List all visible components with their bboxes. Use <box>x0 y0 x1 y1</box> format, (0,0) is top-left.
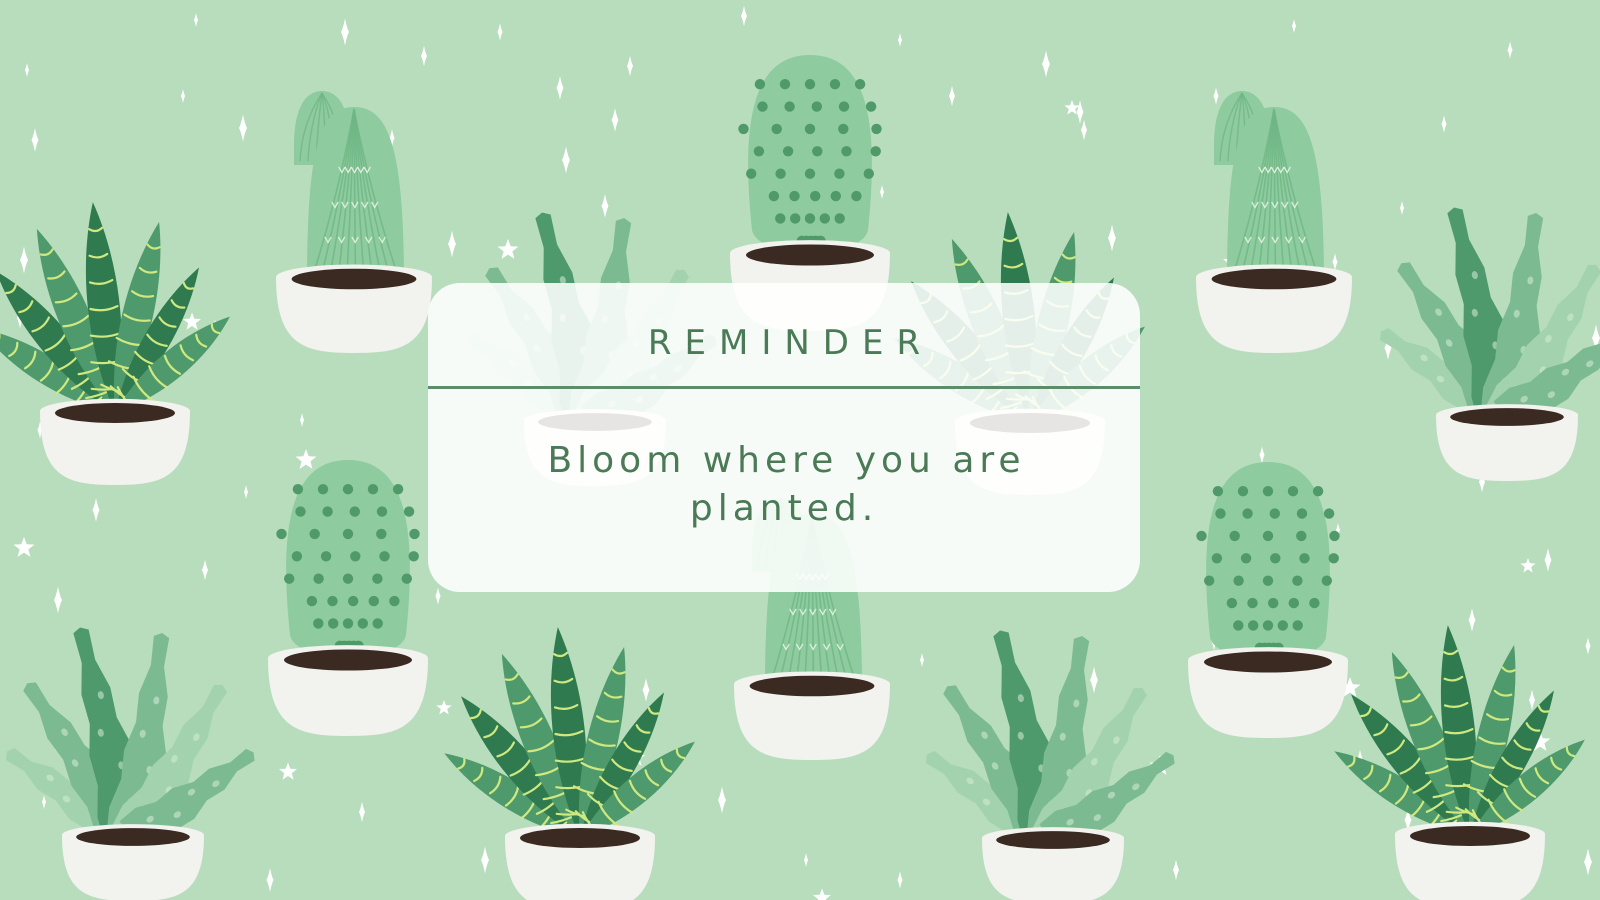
plant-dotted-paddle-cactus <box>700 25 920 325</box>
snake-plant <box>435 625 707 900</box>
cactus-dot <box>1329 553 1339 563</box>
pot-soil-top <box>76 828 190 846</box>
cactus-dot <box>295 506 305 516</box>
cactus-dot <box>1270 508 1280 518</box>
cactus-dot <box>328 618 338 628</box>
cactus-dot <box>368 484 378 494</box>
cactus-dot <box>805 213 815 223</box>
cactus-dot <box>373 618 383 628</box>
poster-canvas: REMINDER Bloom where you are planted. <box>0 0 1600 900</box>
cactus-dot <box>738 124 748 134</box>
snake-plant <box>0 200 241 485</box>
cactus-dot <box>377 506 387 516</box>
cactus-dot <box>1299 553 1309 563</box>
cactus-dot <box>369 596 379 606</box>
cactus-dot <box>1309 598 1319 608</box>
cactus-dot <box>404 506 414 516</box>
pot-soil-top <box>1212 269 1337 290</box>
cactus-dot <box>1247 598 1257 608</box>
cactus-dot <box>754 146 764 156</box>
cactus-dot <box>1329 531 1339 541</box>
cactus-dot <box>1313 486 1323 496</box>
cactus-dot <box>820 213 830 223</box>
plant-dotted-paddle-cactus <box>238 430 458 730</box>
plant-aloe-vera <box>8 595 258 895</box>
cactus-dot <box>1288 486 1298 496</box>
cactus-dot <box>805 79 815 89</box>
cactus-dot <box>780 79 790 89</box>
cactus-dot <box>321 551 331 561</box>
cactus-dot <box>1289 598 1299 608</box>
card-divider <box>428 386 1140 389</box>
cactus-dot <box>783 146 793 156</box>
cactus-dot <box>871 124 881 134</box>
cactus-dot <box>871 146 881 156</box>
cactus-dot <box>834 169 844 179</box>
cactus-dot <box>1212 553 1222 563</box>
quote-text: Bloom where you are planted. <box>472 437 1096 532</box>
cactus-dot <box>757 101 767 111</box>
cactus-dot <box>393 484 403 494</box>
cactus-dot <box>313 574 323 584</box>
cactus-dot <box>841 146 851 156</box>
snake-plant <box>1325 623 1597 900</box>
cactus-dot <box>348 596 358 606</box>
cactus-dot <box>350 551 360 561</box>
pot-soil-top <box>55 403 175 423</box>
cactus-dot <box>1213 486 1223 496</box>
pot-soil-top <box>1410 826 1530 846</box>
reminder-card: REMINDER Bloom where you are planted. <box>428 283 1140 592</box>
cactus-dot <box>1233 620 1243 630</box>
cactus-dot <box>292 551 302 561</box>
page-title: REMINDER <box>428 323 1140 363</box>
plant-snake-plant <box>1345 598 1595 898</box>
pot-soil-top <box>1204 651 1332 672</box>
cactus-dot <box>839 101 849 111</box>
plant-ribbed-barrel-cactus <box>1152 45 1382 345</box>
cactus-dot <box>1296 531 1306 541</box>
cactus-dot <box>343 618 353 628</box>
cactus-dot <box>1263 531 1273 541</box>
cactus-dot <box>358 618 368 628</box>
cactus-dot <box>409 529 419 539</box>
dotted-paddle-cactus <box>1188 462 1348 738</box>
plant-snake-plant <box>455 600 705 900</box>
cactus-dot <box>830 79 840 89</box>
cactus-dot <box>389 596 399 606</box>
cactus-dot <box>379 551 389 561</box>
cactus-dot <box>1215 508 1225 518</box>
cactus-dot <box>835 213 845 223</box>
cactus-dot <box>831 191 841 201</box>
cactus-dot <box>1241 553 1251 563</box>
ribbed-barrel-cactus <box>1196 91 1352 353</box>
cactus-dot <box>810 191 820 201</box>
pot-soil-top <box>996 831 1110 849</box>
cactus-dot <box>318 484 328 494</box>
cactus-dot <box>812 101 822 111</box>
ribbed-barrel-cactus <box>276 91 432 353</box>
cactus-dot <box>855 79 865 89</box>
cactus-dot <box>1230 531 1240 541</box>
cactus-dot <box>1238 486 1248 496</box>
cactus-dot <box>1263 486 1273 496</box>
cactus-dot <box>409 551 419 561</box>
cactus-dot <box>864 169 874 179</box>
pot-soil-top <box>284 649 412 670</box>
cactus-dot <box>343 574 353 584</box>
cactus-dot <box>1242 508 1252 518</box>
cactus-dot <box>805 169 815 179</box>
cactus-dot <box>1297 508 1307 518</box>
cactus-dot <box>1268 598 1278 608</box>
cactus-dot <box>851 191 861 201</box>
cactus-dot <box>1270 553 1280 563</box>
cactus-dot <box>1248 620 1258 630</box>
cactus-dot <box>775 169 785 179</box>
cactus-dot <box>838 124 848 134</box>
cactus-dot <box>755 79 765 89</box>
dotted-paddle-cactus <box>268 460 428 736</box>
cactus-dot <box>1293 620 1303 630</box>
cactus-dot <box>1292 576 1302 586</box>
pot-soil-top <box>292 269 417 290</box>
cactus-dot <box>1278 620 1288 630</box>
cactus-dot <box>284 574 294 584</box>
reminder-card-inner: REMINDER Bloom where you are planted. <box>428 283 1140 592</box>
cactus-dot <box>1322 576 1332 586</box>
cactus-dot <box>402 574 412 584</box>
cactus-dot <box>313 618 323 628</box>
cactus-dot <box>343 484 353 494</box>
cactus-dot <box>775 213 785 223</box>
pot-soil-top <box>750 676 875 697</box>
cactus-dot <box>1196 531 1206 541</box>
cactus-dot <box>746 169 756 179</box>
cactus-dot <box>376 529 386 539</box>
cactus-dot <box>327 596 337 606</box>
pot-soil-top <box>520 828 640 848</box>
cactus-dot <box>772 124 782 134</box>
cactus-dot <box>866 101 876 111</box>
cactus-dot <box>350 506 360 516</box>
cactus-dot <box>322 506 332 516</box>
cactus-dot <box>1263 620 1273 630</box>
cactus-dot <box>293 484 303 494</box>
cactus-dot <box>789 191 799 201</box>
aloe-vera <box>912 623 1188 900</box>
pot-soil-top <box>1450 408 1564 426</box>
plant-aloe-vera <box>928 598 1178 898</box>
cactus-dot <box>1227 598 1237 608</box>
cactus-dot <box>812 146 822 156</box>
plant-snake-plant <box>0 175 240 475</box>
cactus-dot <box>1263 576 1273 586</box>
cactus-dot <box>372 574 382 584</box>
cactus-dot <box>307 596 317 606</box>
pot-soil-top <box>746 244 874 265</box>
aloe-vera <box>0 620 268 900</box>
cactus-dot <box>343 529 353 539</box>
cactus-dot <box>784 101 794 111</box>
cactus-dot <box>1233 576 1243 586</box>
cactus-dot <box>805 124 815 134</box>
cactus-dot <box>769 191 779 201</box>
cactus-dot <box>1324 508 1334 518</box>
cactus-dot <box>276 529 286 539</box>
cactus-dot <box>310 529 320 539</box>
cactus-dot <box>790 213 800 223</box>
plant-aloe-vera <box>1382 175 1600 475</box>
cactus-dot <box>1204 576 1214 586</box>
aloe-vera <box>1366 200 1600 481</box>
